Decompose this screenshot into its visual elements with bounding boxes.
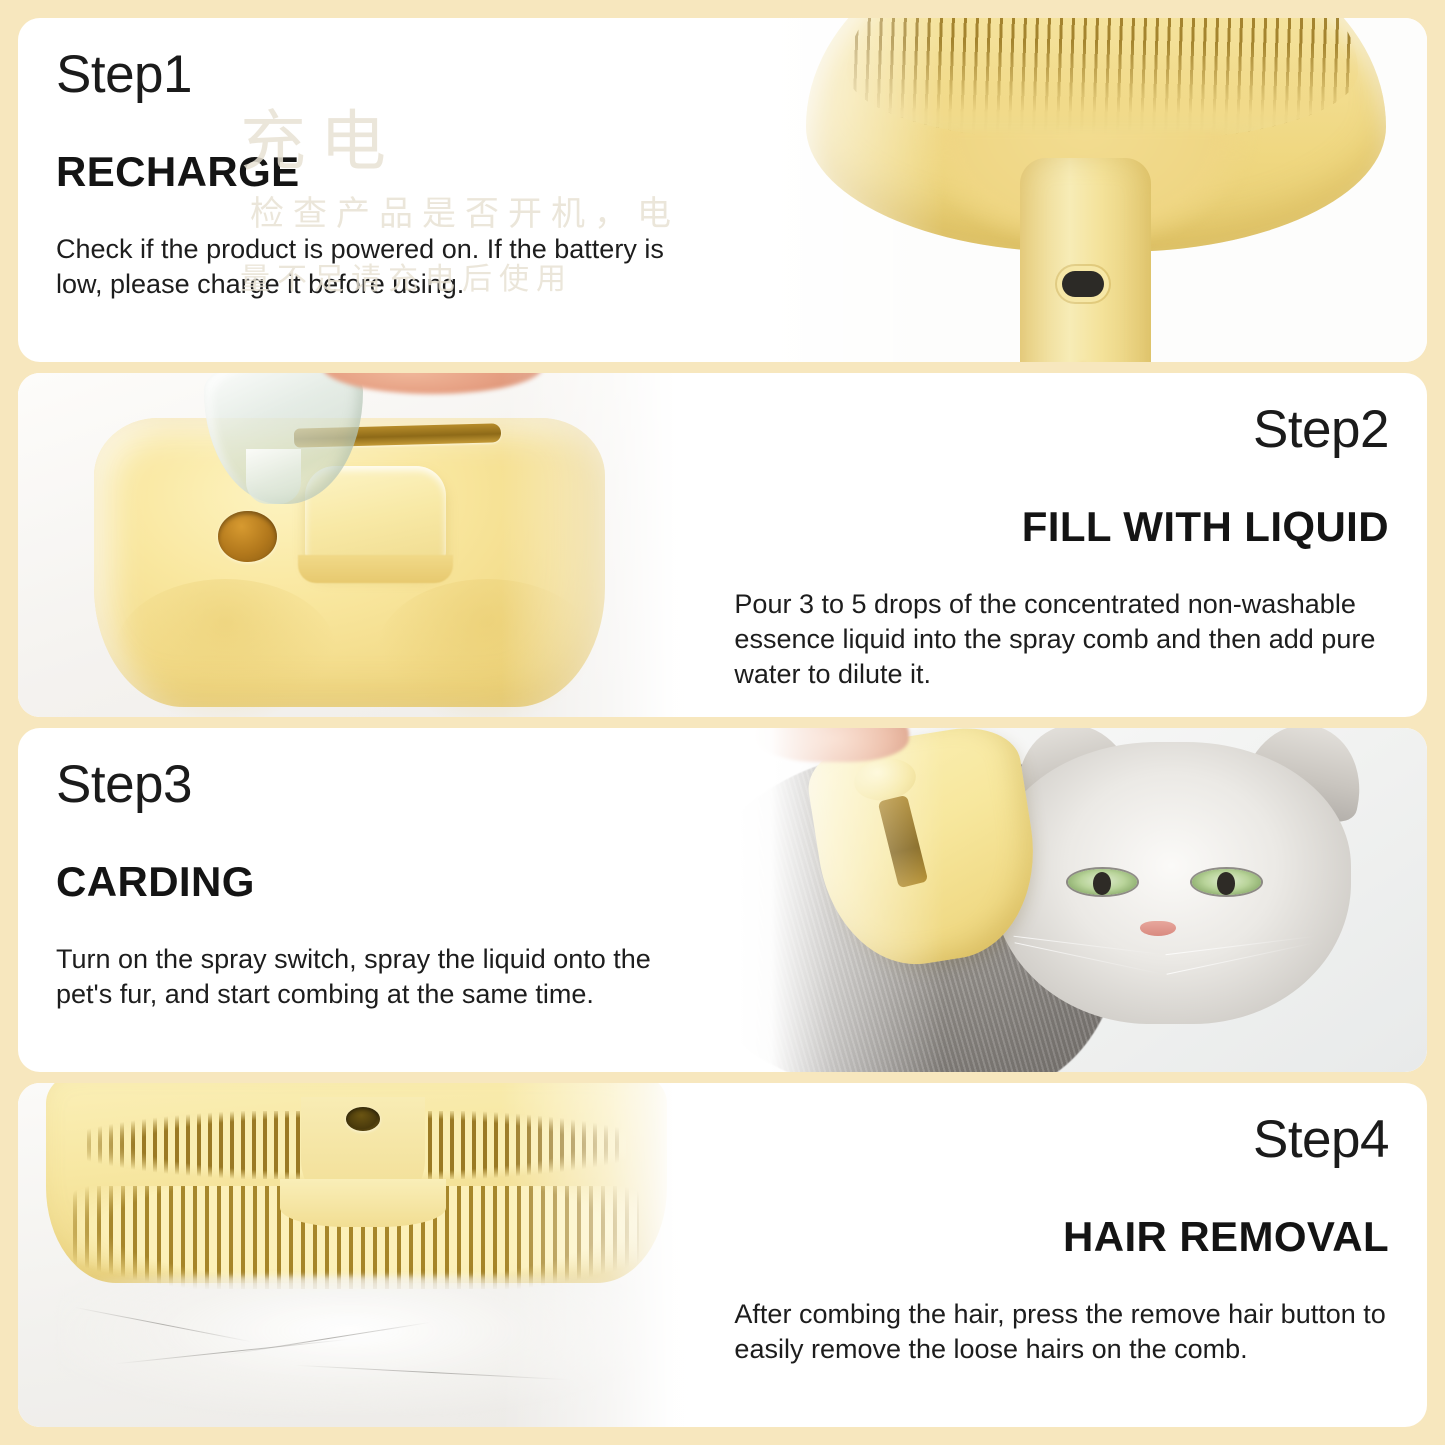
step-4-number: Step4 bbox=[734, 1113, 1389, 1167]
step-3-text-block: Step3 CARDING Turn on the spray switch, … bbox=[18, 728, 737, 1072]
step-1-body: Check if the product is powered on. If t… bbox=[56, 232, 711, 302]
step-3-image bbox=[737, 728, 1427, 1072]
step-2-text-block: Step2 FILL WITH LIQUID Pour 3 to 5 drops… bbox=[708, 373, 1427, 717]
step-4-text-block: Step4 HAIR REMOVAL After combing the hai… bbox=[708, 1083, 1427, 1427]
step-4-image bbox=[18, 1083, 708, 1427]
step-2-image bbox=[18, 373, 708, 717]
step-panel-4: Step4 HAIR REMOVAL After combing the hai… bbox=[18, 1083, 1427, 1427]
step-3-body: Turn on the spray switch, spray the liqu… bbox=[56, 942, 711, 1012]
step-1-text-block: 充电 检查产品是否开机，电 量不足请充电后使用 Step1 RECHARGE C… bbox=[18, 18, 737, 362]
instruction-infographic: 充电 检查产品是否开机，电 量不足请充电后使用 Step1 RECHARGE C… bbox=[0, 0, 1445, 1445]
step-1-image bbox=[737, 18, 1427, 362]
fill-port-icon bbox=[218, 511, 277, 563]
step-1-number: Step1 bbox=[56, 48, 711, 102]
step-2-number: Step2 bbox=[734, 403, 1389, 457]
step-panel-2: Step2 FILL WITH LIQUID Pour 3 to 5 drops… bbox=[18, 373, 1427, 717]
step-panel-3: Step3 CARDING Turn on the spray switch, … bbox=[18, 728, 1427, 1072]
step-3-headline: CARDING bbox=[56, 860, 711, 904]
step-panel-1: 充电 检查产品是否开机，电 量不足请充电后使用 Step1 RECHARGE C… bbox=[18, 18, 1427, 362]
step-2-body: Pour 3 to 5 drops of the concentrated no… bbox=[734, 587, 1389, 692]
step-1-headline: RECHARGE bbox=[56, 150, 711, 194]
step-4-headline: HAIR REMOVAL bbox=[734, 1215, 1389, 1259]
cat-head-illustration bbox=[992, 742, 1351, 1024]
step-3-number: Step3 bbox=[56, 758, 711, 812]
comb-handle-illustration bbox=[1020, 158, 1151, 362]
step-2-headline: FILL WITH LIQUID bbox=[734, 505, 1389, 549]
usb-c-port-icon bbox=[1062, 271, 1104, 297]
loose-hair-illustration bbox=[59, 1276, 639, 1414]
step-4-body: After combing the hair, press the remove… bbox=[734, 1297, 1389, 1367]
comb-bristles-illustration bbox=[847, 18, 1358, 140]
